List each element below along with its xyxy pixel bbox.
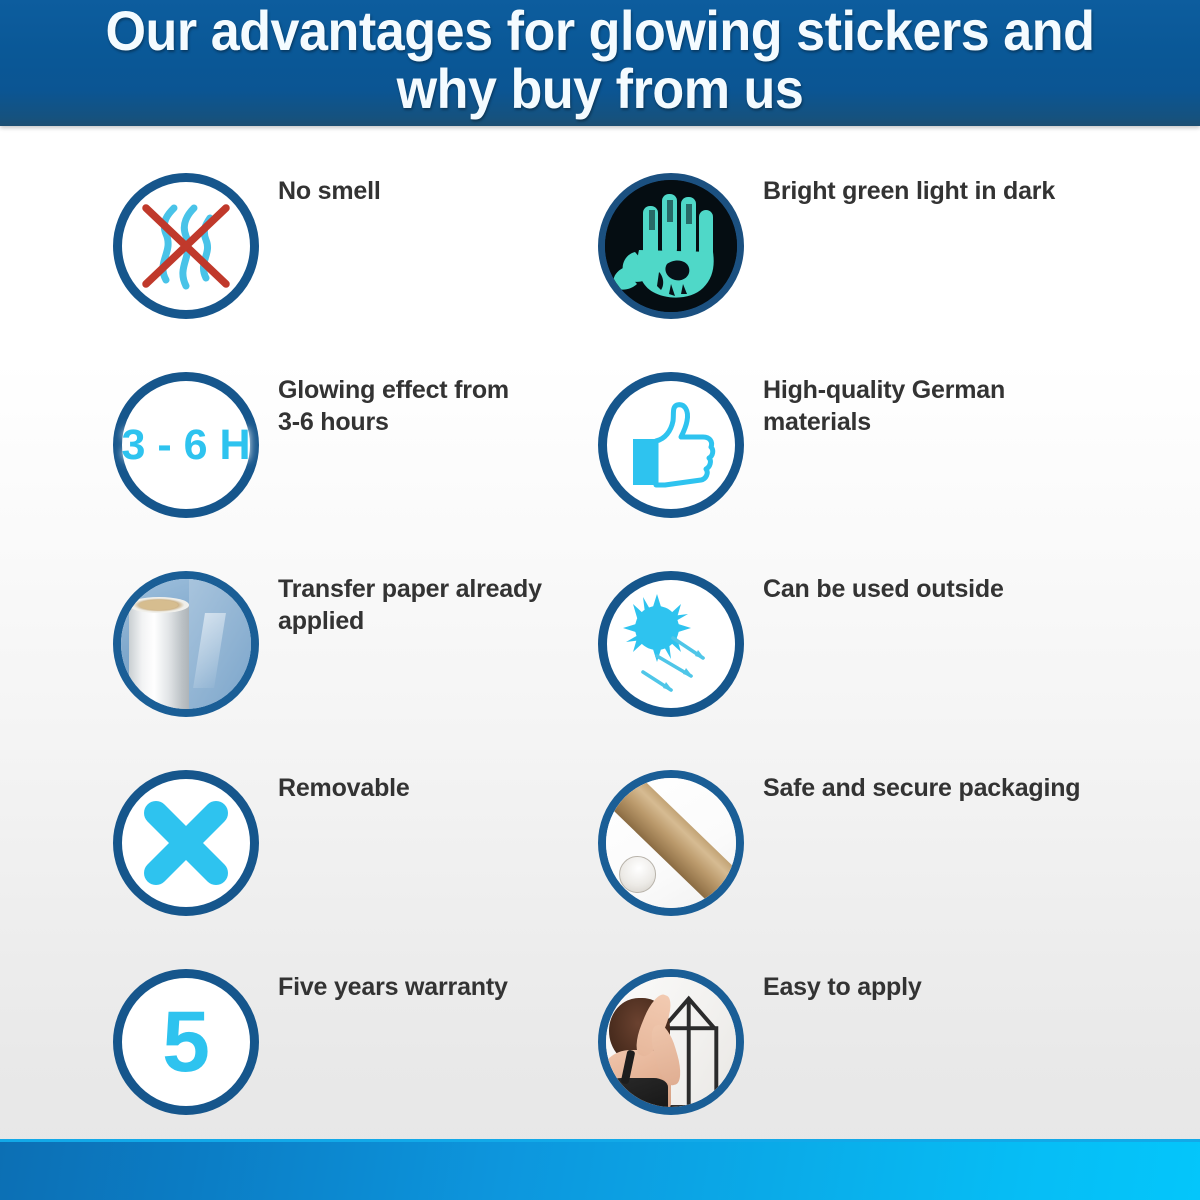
- feature-easy-to-apply: Easy to apply: [598, 969, 1098, 1144]
- feature-german-materials: High-quality German materials: [598, 372, 1098, 547]
- woman-applying-decal-icon: [598, 969, 744, 1115]
- x-mark-icon: [113, 770, 259, 916]
- mailing-tube-icon: [598, 770, 744, 916]
- advantages-infographic: Our advantages for glowing stickers and …: [0, 0, 1200, 1200]
- header-banner: Our advantages for glowing stickers and …: [0, 0, 1200, 126]
- feature-glowing-effect-duration: 3 - 6 H Glowing effect from 3-6 hours: [113, 372, 613, 547]
- handprint-glyph: [605, 180, 737, 312]
- feature-outdoor-use: Can be used outside: [598, 571, 1098, 746]
- feature-label: No smell: [278, 175, 608, 207]
- five-badge-icon: [113, 969, 259, 1115]
- thumbs-up-glyph: [607, 381, 735, 509]
- feature-no-smell: No smell: [113, 173, 613, 348]
- feature-label: Safe and secure packaging: [763, 772, 1093, 804]
- feature-label: Transfer paper already applied: [278, 573, 608, 637]
- feature-warranty: 5 Five years warranty: [113, 969, 613, 1144]
- feature-label: Glowing effect from 3-6 hours: [278, 374, 608, 438]
- bottom-accent-bar: [0, 1139, 1200, 1200]
- transfer-paper-roll-icon: [113, 571, 259, 717]
- feature-transfer-paper: Transfer paper already applied: [113, 571, 613, 746]
- feature-label: Can be used outside: [763, 573, 1093, 605]
- no-smell-icon: [113, 173, 259, 319]
- feature-removable: Removable: [113, 770, 613, 945]
- sun-glyph: [607, 580, 735, 708]
- x-mark-glyph: [122, 779, 250, 907]
- sun-rays-icon: [598, 571, 744, 717]
- no-smell-glyph: [122, 182, 250, 310]
- feature-label: High-quality German materials: [763, 374, 1093, 438]
- hours-badge-icon: [113, 372, 259, 518]
- feature-label: Five years warranty: [278, 971, 608, 1003]
- page-title: Our advantages for glowing stickers and …: [42, 2, 1158, 118]
- feature-label: Removable: [278, 772, 608, 804]
- thumbs-up-icon: [598, 372, 744, 518]
- glowing-handprint-icon: [598, 173, 744, 319]
- feature-bright-green-light: Bright green light in dark: [598, 173, 1098, 348]
- feature-label: Easy to apply: [763, 971, 1093, 1003]
- feature-label: Bright green light in dark: [763, 175, 1093, 207]
- feature-safe-packaging: Safe and secure packaging: [598, 770, 1098, 945]
